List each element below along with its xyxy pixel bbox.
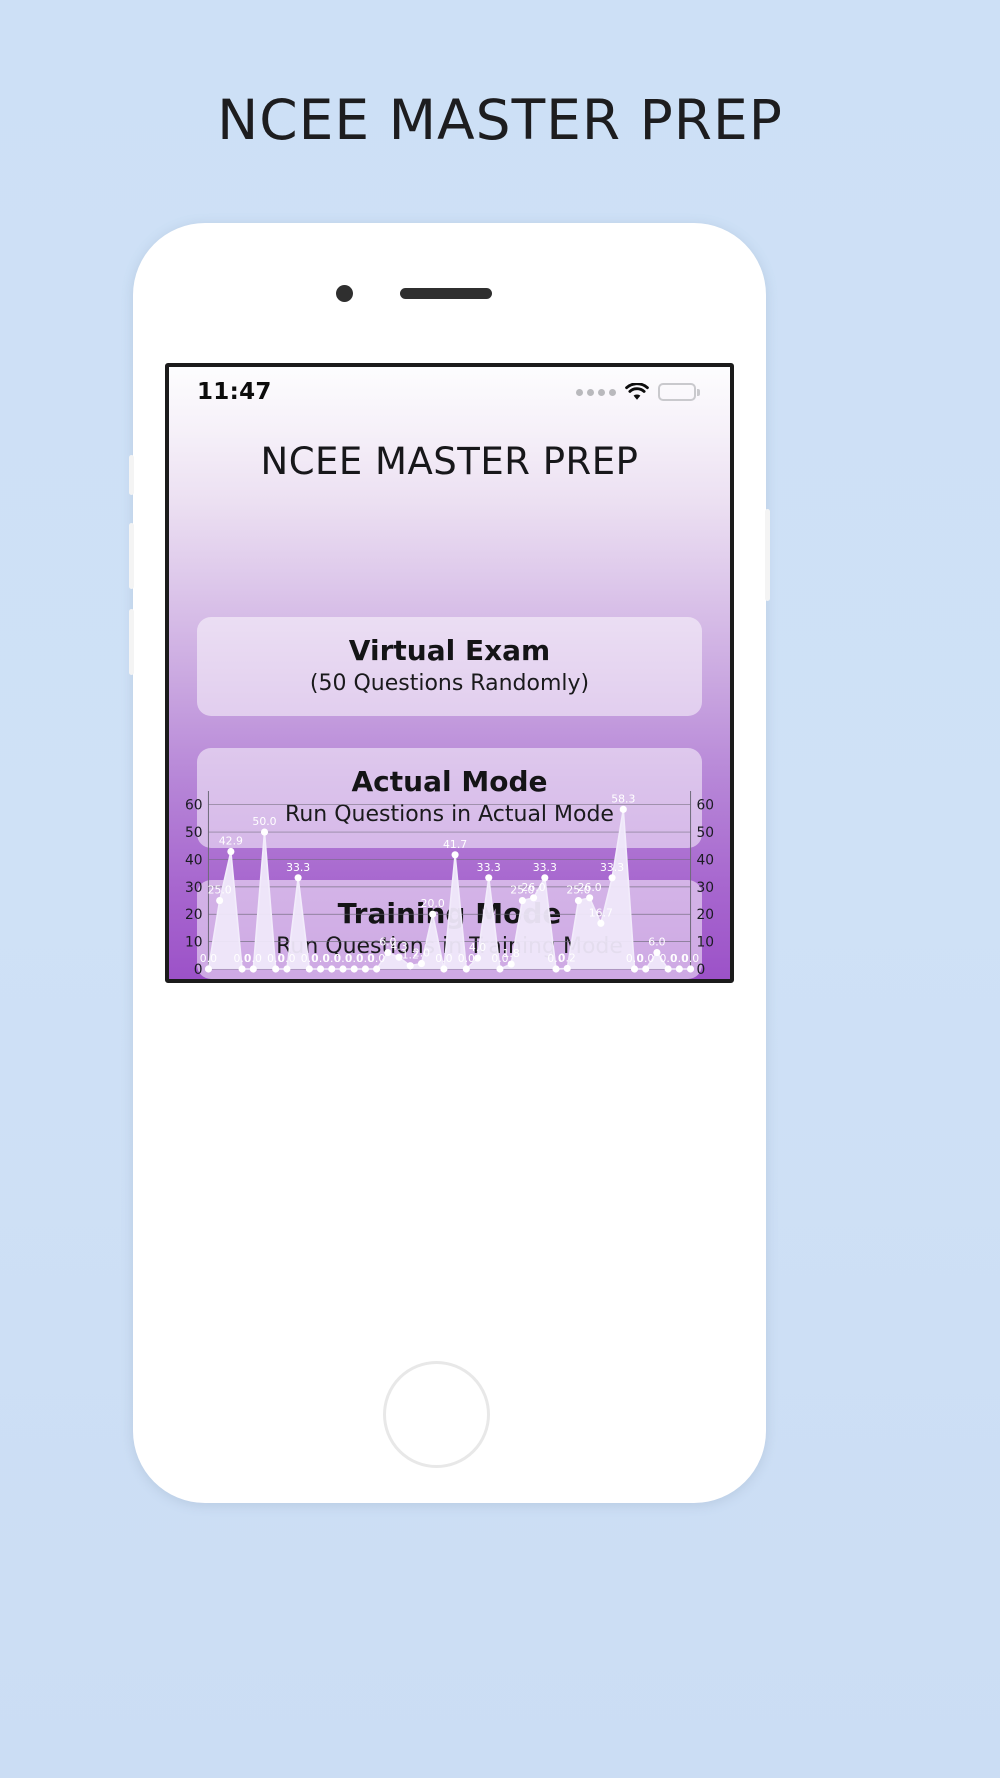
data-point-label: 0.0 [682, 952, 699, 965]
data-point [339, 965, 346, 972]
data-point [239, 965, 246, 972]
data-point [575, 897, 582, 904]
camera-dot-icon [336, 285, 353, 302]
data-point [631, 965, 638, 972]
data-point [474, 954, 481, 961]
y-axis-tick-right: 40 [696, 852, 714, 868]
data-point-label: 41.7 [443, 838, 467, 851]
data-point [687, 965, 694, 972]
menu-button-subtitle: (50 Questions Randomly) [207, 671, 692, 697]
y-axis-tick-right: 60 [696, 798, 714, 814]
phone-screen: 11:47 NCEE MASTER [165, 363, 734, 983]
data-point-label: 33.3 [286, 861, 310, 874]
data-point-label: 6.0 [648, 935, 665, 948]
data-point-label: 20.0 [421, 897, 445, 910]
data-point [351, 965, 358, 972]
data-point-label: 26.0 [522, 881, 546, 894]
data-point [676, 965, 683, 972]
data-point [665, 965, 672, 972]
data-point [306, 965, 313, 972]
data-point [250, 965, 257, 972]
home-button[interactable] [383, 1361, 490, 1468]
data-point-label: 2.0 [413, 946, 430, 959]
y-axis-tick-right: 20 [696, 907, 714, 923]
data-point [373, 965, 380, 972]
y-axis-tick-right: 10 [696, 935, 714, 951]
data-point-label: 42.9 [219, 834, 243, 847]
data-point-label: 16.7 [589, 906, 613, 919]
wifi-icon [625, 383, 649, 401]
data-point [642, 965, 649, 972]
phone-mute-switch [129, 455, 134, 495]
data-point [362, 965, 369, 972]
battery-full-icon [658, 383, 700, 401]
data-point-label: 26.0 [578, 881, 602, 894]
data-point-label: 25.0 [208, 883, 232, 896]
data-point-label: 0.0 [245, 952, 262, 965]
app-title: NCEE MASTER PREP [169, 440, 730, 483]
menu-button-title: Virtual Exam [207, 634, 692, 667]
data-point [227, 848, 234, 855]
data-point [205, 965, 212, 972]
data-point [541, 874, 548, 881]
data-point [586, 894, 593, 901]
data-point-label: 0.0 [435, 952, 452, 965]
data-point-label: 0.0 [200, 952, 217, 965]
status-indicators [576, 383, 700, 401]
data-point-label: 0.0 [278, 952, 295, 965]
y-axis-tick-left: 40 [185, 852, 203, 868]
data-point-label: 50.0 [252, 815, 276, 828]
y-axis-tick-left: 50 [185, 825, 203, 841]
data-point-label: 0.0 [368, 952, 385, 965]
data-point [317, 965, 324, 972]
performance-chart-svg: 001010202030304040505060600.025.042.90.0… [169, 769, 730, 979]
data-point-label: 0.0 [637, 952, 654, 965]
data-point [496, 965, 503, 972]
signal-dots-icon [576, 389, 616, 396]
data-point [328, 965, 335, 972]
data-point-label: 33.3 [533, 861, 557, 874]
data-point [597, 920, 604, 927]
data-point-label: 58.3 [611, 792, 635, 805]
data-point [620, 806, 627, 813]
data-point [519, 897, 526, 904]
menu-button-virtual-exam[interactable]: Virtual Exam (50 Questions Randomly) [197, 617, 702, 716]
y-axis-tick-left: 30 [185, 880, 203, 896]
data-point [508, 960, 515, 967]
phone-frame: 11:47 NCEE MASTER [133, 223, 766, 1503]
phone-power-button [765, 509, 770, 601]
y-axis-tick-left: 10 [185, 935, 203, 951]
data-point-label: 33.3 [600, 861, 624, 874]
data-point [272, 965, 279, 972]
data-point [261, 828, 268, 835]
y-axis-tick-left: 20 [185, 907, 203, 923]
y-axis-tick-right: 50 [696, 825, 714, 841]
data-point [216, 897, 223, 904]
speaker-grill-icon [400, 288, 492, 299]
data-point [407, 962, 414, 969]
page-root: NCEE MASTER PREP 11:47 [0, 0, 1000, 1778]
phone-volume-down-button [129, 609, 134, 675]
status-time: 11:47 [197, 379, 272, 405]
data-point [283, 965, 290, 972]
data-point [564, 965, 571, 972]
data-point-label: 33.3 [477, 861, 501, 874]
y-axis-tick-left: 60 [185, 798, 203, 814]
data-point [530, 894, 537, 901]
data-point [463, 965, 470, 972]
data-point [609, 874, 616, 881]
data-point-label: 4.0 [469, 941, 486, 954]
data-point [418, 960, 425, 967]
y-axis-tick-right: 30 [696, 880, 714, 896]
data-point-label: 1.8 [503, 947, 520, 960]
phone-volume-up-button [129, 523, 134, 589]
performance-chart: 001010202030304040505060600.025.042.90.0… [169, 769, 730, 979]
data-point [485, 874, 492, 881]
data-point [429, 911, 436, 918]
data-point [552, 965, 559, 972]
data-point [440, 965, 447, 972]
data-point-label: 0.2 [559, 951, 576, 964]
status-bar: 11:47 [169, 367, 730, 417]
page-title: NCEE MASTER PREP [0, 88, 1000, 152]
data-point [452, 851, 459, 858]
data-point [295, 874, 302, 881]
